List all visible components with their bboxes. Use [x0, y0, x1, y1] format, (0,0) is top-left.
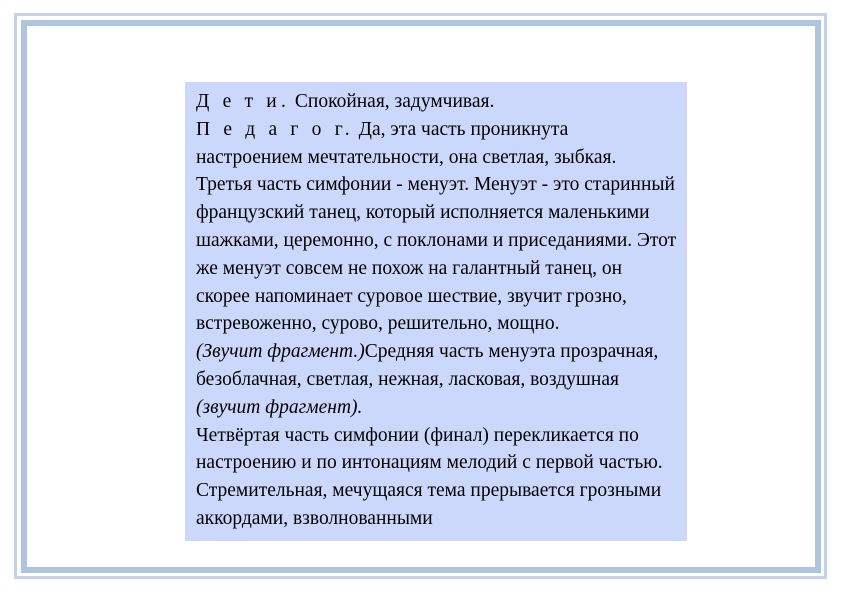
slide: Д е т и. Спокойная, задумчивая. П е д а …	[0, 0, 842, 595]
dialogue-text-children: Спокойная, задумчивая.	[290, 91, 494, 112]
speaker-label-children: Д е т и.	[196, 91, 290, 112]
paragraph-minuet-middle: (Звучит фрагмент.)Средняя часть менуэта …	[196, 338, 677, 421]
paragraph-third-movement: Третья часть симфонии - менуэт. Менуэт -…	[196, 171, 677, 338]
paragraph-third-movement-text: Третья часть симфонии - менуэт. Менуэт -…	[196, 174, 676, 334]
stage-direction-open: (Звучит фрагмент.)	[196, 341, 365, 362]
paragraph-fourth-movement-text: Четвёртая часть симфонии (финал) перекли…	[196, 425, 663, 529]
slide-text-block: Д е т и. Спокойная, задумчивая. П е д а …	[185, 82, 687, 541]
stage-direction-close: (звучит фрагмент).	[196, 397, 362, 418]
speaker-label-teacher: П е д а г о г.	[196, 119, 354, 140]
paragraph-fourth-movement: Четвёртая часть симфонии (финал) перекли…	[196, 422, 677, 533]
dialogue-line-teacher: П е д а г о г. Да, эта часть проникнута …	[196, 116, 677, 172]
dialogue-line-children: Д е т и. Спокойная, задумчивая.	[196, 88, 677, 116]
